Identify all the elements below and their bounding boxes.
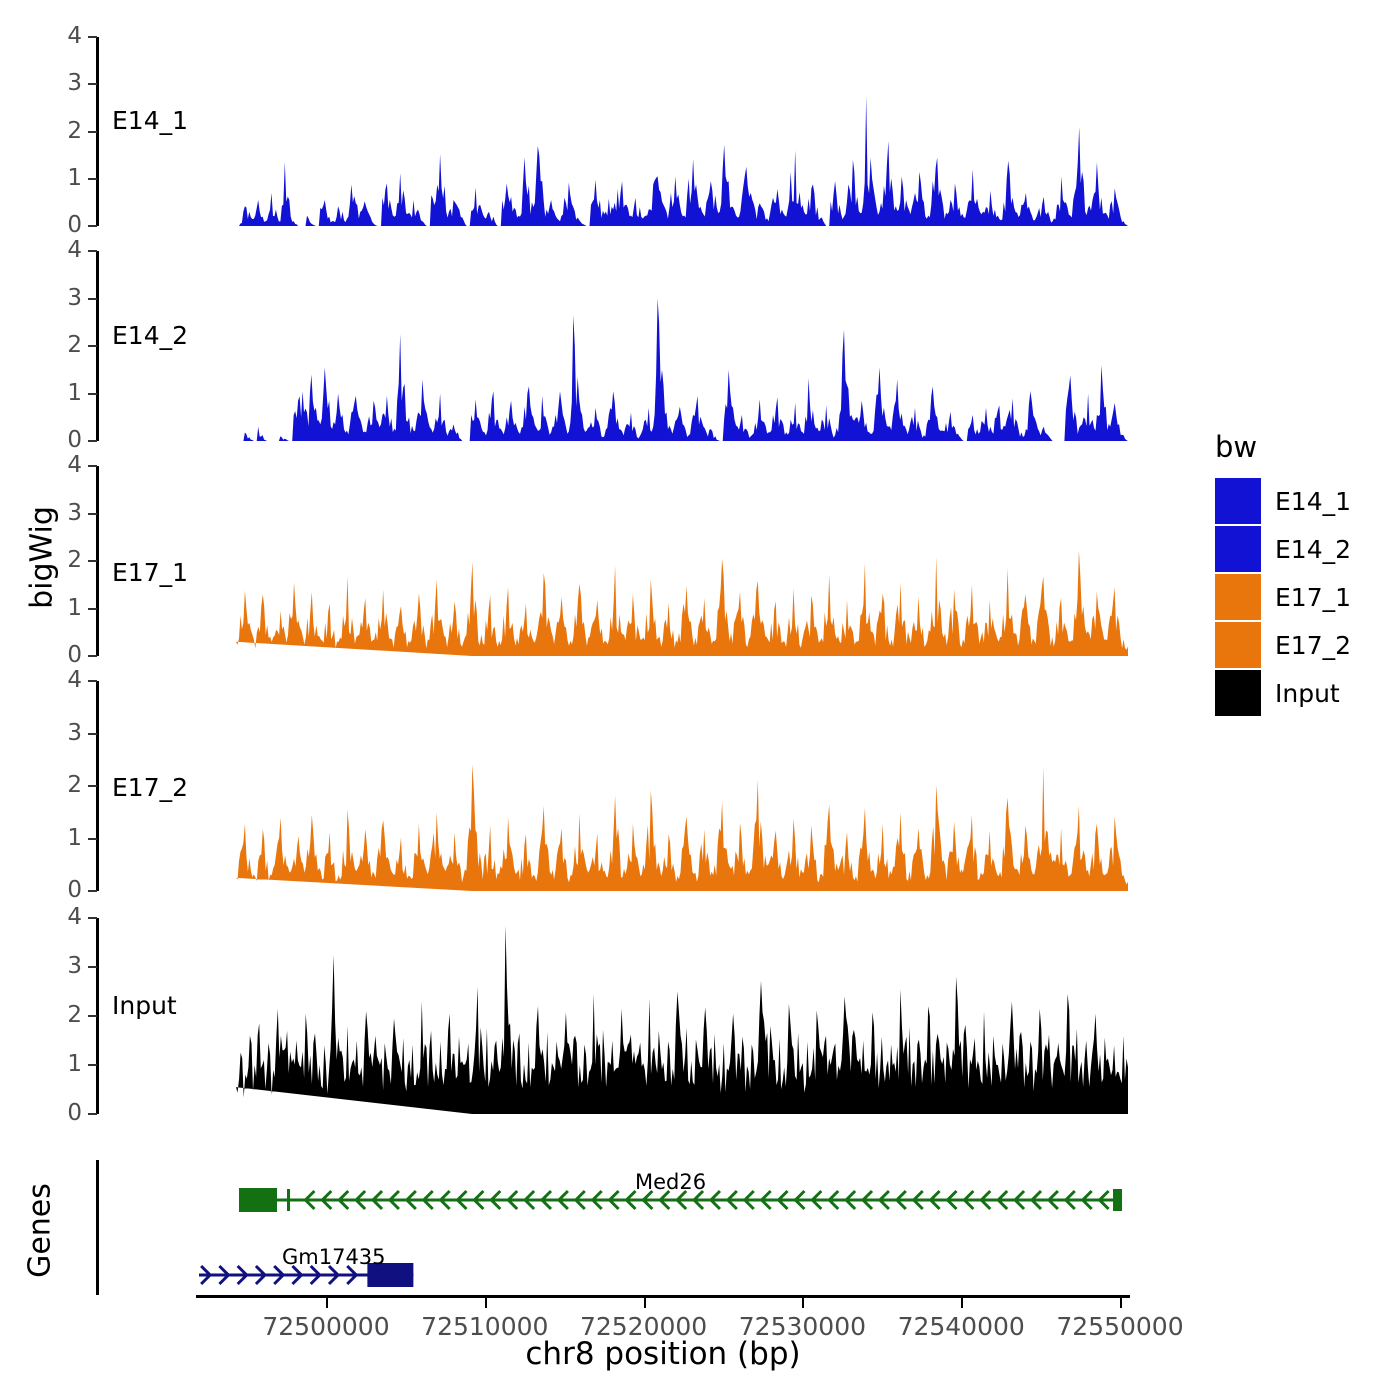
y-tick-label: 0 [48,644,82,667]
track-label-e17_1: E17_1 [112,558,188,587]
y-tick-mark [88,1015,97,1017]
y-tick-label: 0 [48,429,82,452]
y-axis-label-genes: Genes [23,1161,58,1301]
genes-axis-line [96,1160,99,1295]
y-tick-mark [88,608,97,610]
track-label-e17_2: E17_2 [112,773,188,802]
track-label-e14_2: E14_2 [112,321,188,350]
y-tick-mark [88,560,97,562]
y-tick-label: 1 [48,1053,82,1076]
legend-item-e17_1[interactable]: E17_1 [1215,574,1351,620]
y-tick-label: 3 [48,722,82,745]
y-tick-mark [88,465,97,467]
y-tick-mark [88,838,97,840]
x-tick-label: 72550000 [1020,1312,1220,1341]
y-tick-label: 2 [48,1004,82,1027]
y-tick-label: 2 [48,774,82,797]
y-tick-label: 4 [48,906,82,929]
y-tick-mark [88,393,97,395]
y-tick-label: 1 [48,597,82,620]
legend-swatch-input [1215,670,1261,716]
x-tick-mark [961,1298,963,1308]
y-tick-mark [88,1064,97,1066]
y-tick-mark [88,178,97,180]
signal-track-e17_2 [236,681,1128,891]
x-tick-mark [644,1298,646,1308]
y-tick-label: 3 [48,502,82,525]
x-tick-mark [802,1298,804,1308]
signal-track-e17_1 [236,466,1128,656]
y-tick-label: 3 [48,287,82,310]
y-tick-mark [88,83,97,85]
signal-track-input [236,918,1128,1114]
y-tick-label: 0 [48,1102,82,1125]
y-tick-label: 4 [48,669,82,692]
track-label-input: Input [112,991,177,1020]
y-tick-mark [88,131,97,133]
y-tick-mark [88,345,97,347]
legend-label: E14_2 [1275,535,1351,564]
legend-swatch-e14_1 [1215,478,1261,524]
y-tick-mark [88,250,97,252]
y-tick-mark [88,733,97,735]
legend-swatch-e14_2 [1215,526,1261,572]
y-tick-label: 0 [48,879,82,902]
legend-swatch-e17_1 [1215,574,1261,620]
legend-title: bw [1215,430,1351,464]
legend-item-input[interactable]: Input [1215,670,1351,716]
signal-track-e14_2 [236,251,1128,441]
y-tick-label: 3 [48,955,82,978]
y-tick-label: 1 [48,382,82,405]
y-tick-label: 2 [48,120,82,143]
legend-label: Input [1275,679,1340,708]
x-axis-title: chr8 position (bp) [363,1336,963,1372]
legend-label: E17_1 [1275,583,1351,612]
legend-item-e14_2[interactable]: E14_2 [1215,526,1351,572]
legend-label: E14_1 [1275,487,1351,516]
legend-swatch-e17_2 [1215,622,1261,668]
x-tick-mark [326,1298,328,1308]
y-tick-mark [88,917,97,919]
y-tick-label: 0 [48,214,82,237]
y-tick-mark [88,513,97,515]
y-tick-mark [88,890,97,892]
y-tick-mark [88,655,97,657]
y-tick-mark [88,440,97,442]
y-tick-mark [88,298,97,300]
y-tick-label: 4 [48,454,82,477]
y-tick-mark [88,225,97,227]
y-tick-label: 2 [48,549,82,572]
y-tick-mark [88,1113,97,1115]
x-tick-mark [1120,1298,1122,1308]
y-tick-mark [88,785,97,787]
track-label-e14_1: E14_1 [112,106,188,135]
legend-item-e14_1[interactable]: E14_1 [1215,478,1351,524]
gene-label-med26: Med26 [635,1170,706,1194]
signal-track-e14_1 [236,37,1128,226]
legend-item-e17_2[interactable]: E17_2 [1215,622,1351,668]
y-tick-label: 1 [48,827,82,850]
y-tick-mark [88,36,97,38]
x-tick-mark [485,1298,487,1308]
x-axis-line [196,1295,1130,1298]
y-tick-mark [88,966,97,968]
y-tick-label: 2 [48,334,82,357]
y-tick-mark [88,680,97,682]
gene-label-gm17435: Gm17435 [282,1245,386,1269]
y-tick-label: 4 [48,25,82,48]
legend: bw E14_1E14_2E17_1E17_2Input [1215,430,1351,718]
y-tick-label: 4 [48,239,82,262]
y-tick-label: 1 [48,167,82,190]
y-tick-label: 3 [48,72,82,95]
legend-label: E17_2 [1275,631,1351,660]
